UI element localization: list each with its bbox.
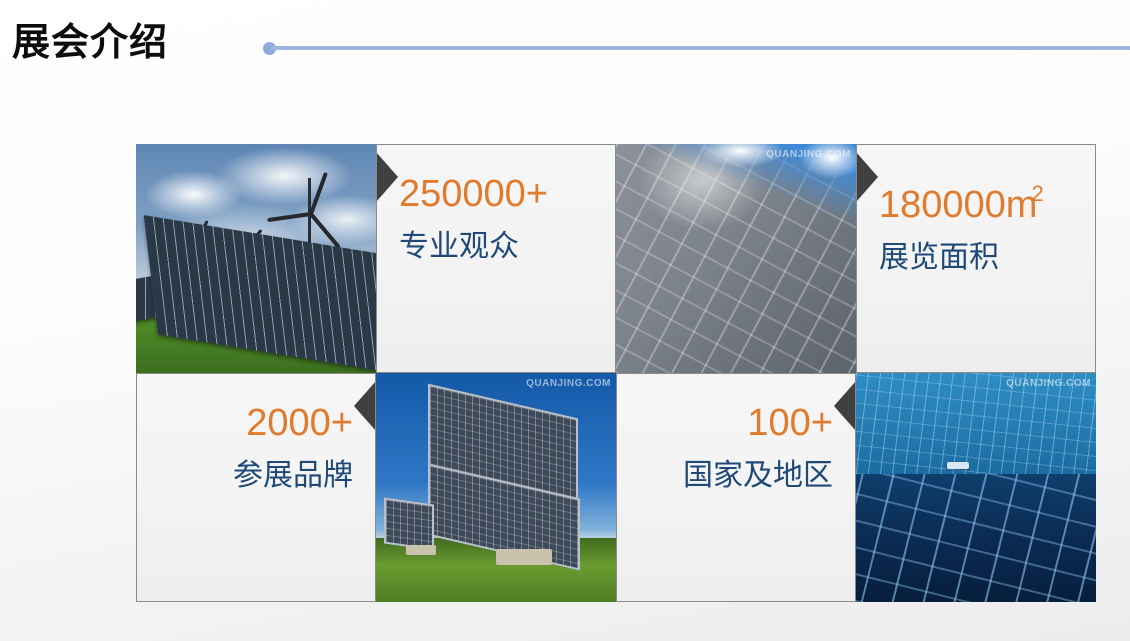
- stat-grid: 250000+ 专业观众 QUANJING.COM 180000m2 展览面积 …: [136, 144, 1096, 602]
- photo-tilted-array: QUANJING.COM: [376, 373, 616, 602]
- stat-card-brands[interactable]: 2000+ 参展品牌: [136, 373, 376, 602]
- photo-watermark: QUANJING.COM: [526, 378, 611, 389]
- stat-card-countries[interactable]: 100+ 国家及地区: [616, 373, 856, 602]
- photo-watermark: QUANJING.COM: [766, 149, 851, 160]
- stat-number-superscript: 2: [1031, 181, 1043, 206]
- stat-label-exhibition-area: 展览面积: [879, 232, 1073, 284]
- stat-label-countries: 国家及地区: [639, 450, 833, 502]
- stat-number-exhibition-area-value: 180000m: [879, 184, 1037, 226]
- stat-number-exhibition-area: 180000m2: [879, 167, 1073, 232]
- stat-label-visitors: 专业观众: [399, 221, 593, 273]
- page-title: 展会介绍: [12, 18, 168, 68]
- photo-panel-closeup: QUANJING.COM: [616, 144, 856, 373]
- panel-base-shape: [496, 549, 552, 565]
- stat-number-countries: 100+: [639, 396, 833, 450]
- photo-watermark: QUANJING.COM: [1006, 378, 1091, 389]
- photo-wind-turbines: [136, 144, 376, 373]
- stat-card-exhibition-area[interactable]: 180000m2 展览面积: [856, 144, 1096, 373]
- stat-card-visitors[interactable]: 250000+ 专业观众: [376, 144, 616, 373]
- photo-blue-panels: QUANJING.COM: [856, 373, 1096, 602]
- stat-number-visitors: 250000+: [399, 167, 593, 221]
- title-rule-line: [271, 46, 1130, 50]
- stat-label-brands: 参展品牌: [159, 450, 353, 502]
- stat-number-brands: 2000+: [159, 396, 353, 450]
- solar-panel-shape: [384, 497, 434, 550]
- title-rule: [263, 40, 1130, 56]
- page-header: 展会介绍: [0, 0, 1130, 95]
- panel-base-shape: [406, 545, 436, 555]
